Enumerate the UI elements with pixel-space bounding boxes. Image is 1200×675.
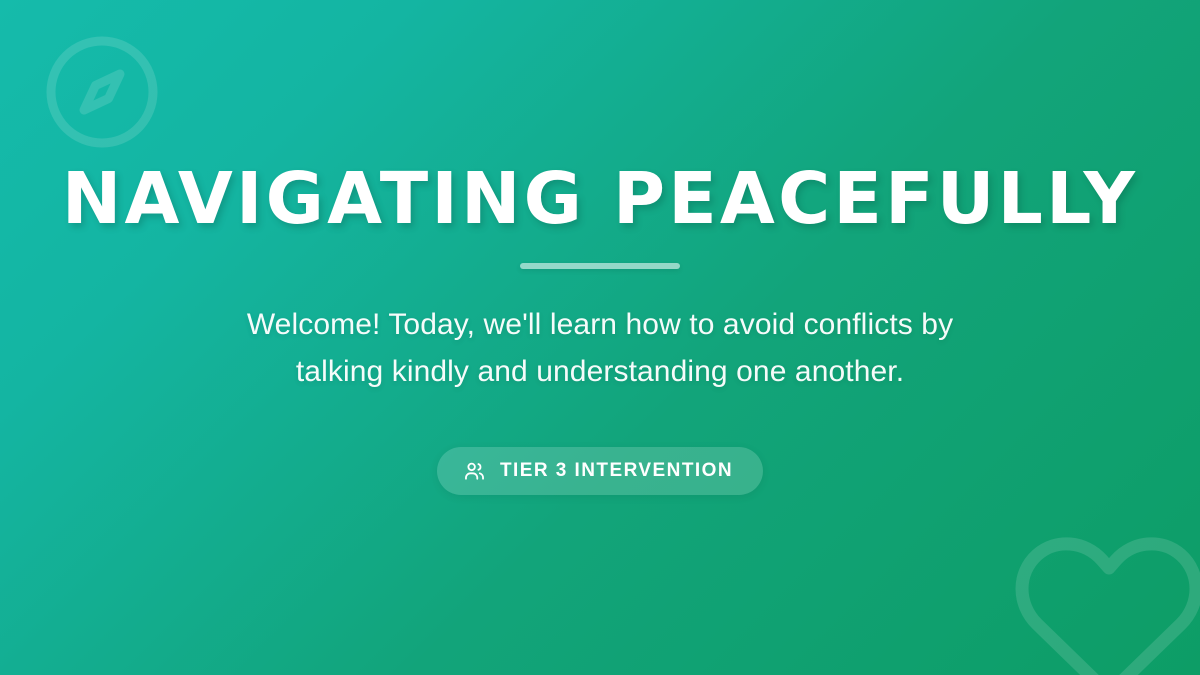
status-badge: Tier 3 Intervention: [437, 447, 763, 495]
slide-content: Navigating Peacefully Welcome! Today, we…: [0, 0, 1200, 675]
status-badge-label: Tier 3 Intervention: [500, 460, 733, 482]
title-divider: [520, 263, 680, 269]
page-title: Navigating Peacefully: [62, 162, 1138, 236]
slide-canvas: Navigating Peacefully Welcome! Today, we…: [0, 0, 1200, 675]
users-icon: [463, 460, 486, 483]
slide-subtitle: Welcome! Today, we'll learn how to avoid…: [220, 301, 980, 396]
